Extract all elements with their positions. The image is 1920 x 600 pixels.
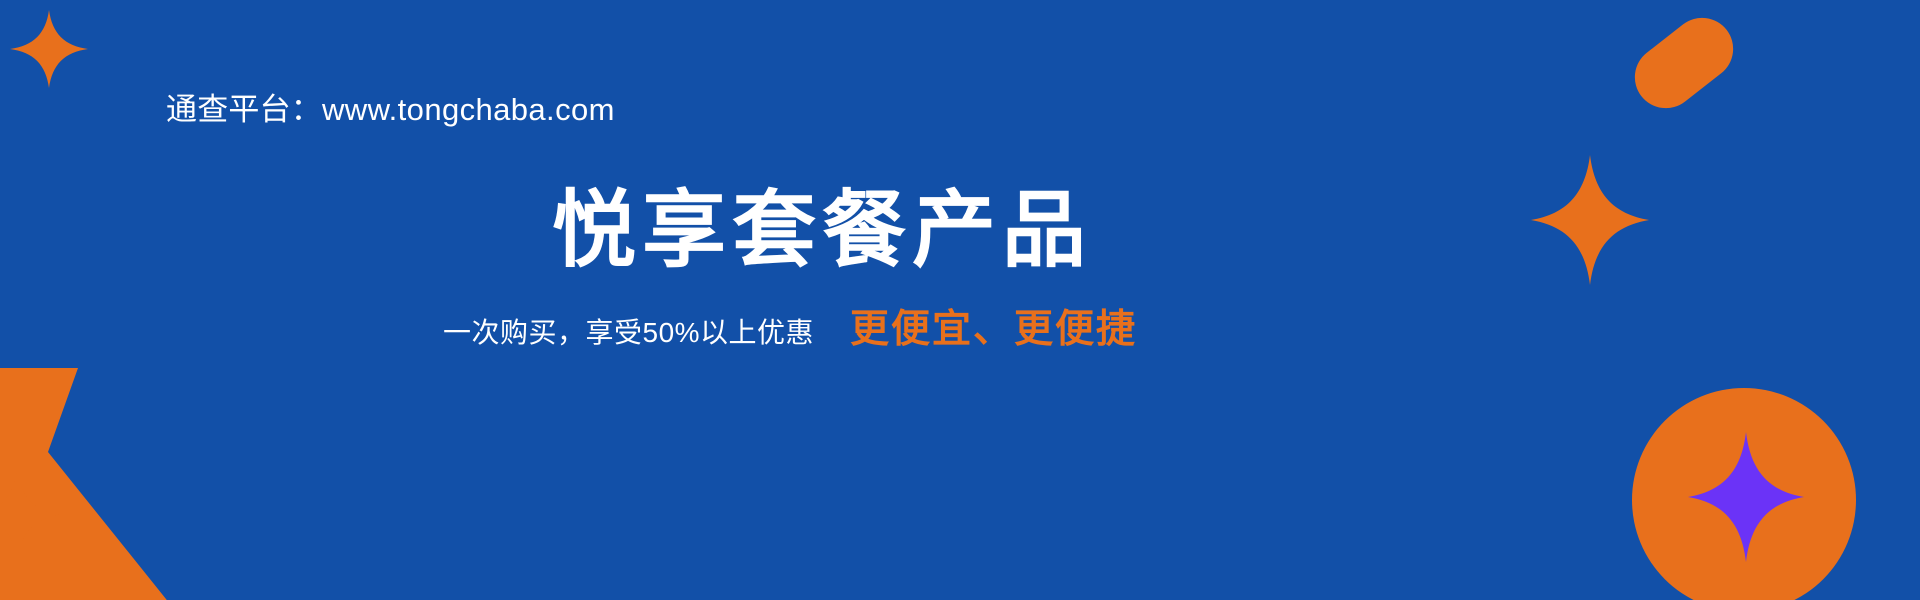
page-title: 悦享套餐产品	[552, 163, 1092, 284]
subtitle-row: 一次购买，享受50%以上优惠 更便宜、更便捷	[443, 298, 1137, 354]
subtitle-accent: 更便宜、更便捷	[850, 298, 1137, 354]
four-point-star-icon	[1688, 432, 1804, 562]
circle-shape	[1632, 388, 1856, 600]
site-line: 通查平台：www.tongchaba.com	[166, 84, 615, 129]
promo-banner: 通查平台：www.tongchaba.com 悦享套餐产品 一次购买，享受50%…	[0, 0, 1920, 600]
four-point-star-icon	[0, 470, 60, 560]
triangle-wedge-shape	[0, 368, 170, 600]
capsule-shape	[1622, 5, 1745, 120]
site-label: 通查平台：	[166, 92, 322, 127]
subtitle-plain: 一次购买，享受50%以上优惠	[443, 311, 814, 351]
four-point-star-icon	[1530, 155, 1650, 285]
four-point-star-icon	[10, 10, 88, 88]
site-url: www.tongchaba.com	[322, 92, 615, 127]
